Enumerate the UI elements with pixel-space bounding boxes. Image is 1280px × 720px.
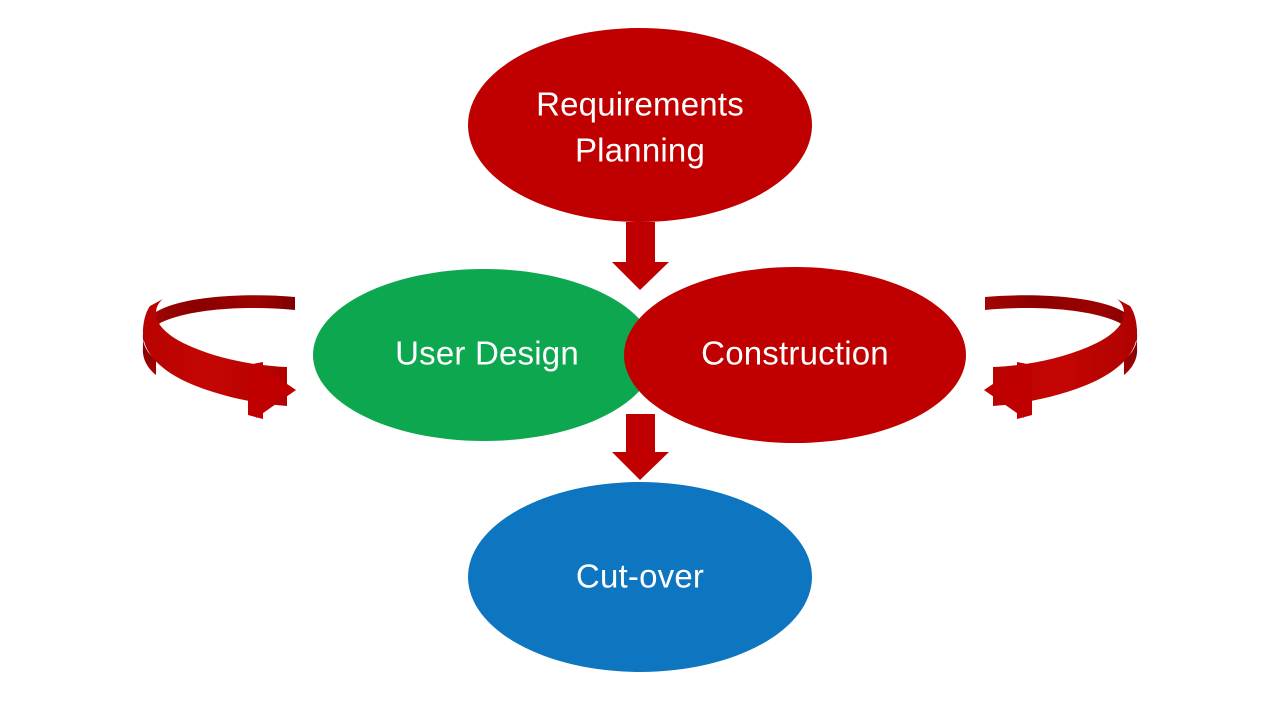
down-arrow-shaft-bottom: [626, 414, 655, 455]
down-arrow-shaft-top: [626, 222, 655, 265]
node-user-design[interactable]: User Design: [313, 269, 655, 441]
node-cut-over[interactable]: Cut-over: [468, 482, 812, 672]
process-cycle-diagram: User Design Construction Requirements Pl…: [0, 0, 1280, 720]
diagram-canvas: User Design Construction Requirements Pl…: [0, 0, 1280, 720]
circular-arrow-right-head-fill: [1017, 362, 1032, 419]
user-design-label: User Design: [395, 335, 579, 372]
requirements-planning-ellipse[interactable]: [468, 28, 812, 222]
requirements-planning-label-line1: Requirements: [536, 86, 744, 123]
node-construction[interactable]: Construction: [624, 267, 966, 443]
down-arrow-head-top: [612, 262, 669, 290]
node-requirements-planning[interactable]: Requirements Planning: [468, 28, 812, 222]
arrow-construction-to-cutover: [612, 414, 669, 480]
iteration-arrow-right: [984, 295, 1137, 419]
down-arrow-head-bottom: [612, 452, 669, 480]
arrow-planning-to-design: [612, 222, 669, 290]
iteration-arrow-left: [143, 295, 296, 419]
construction-label: Construction: [701, 335, 889, 372]
circular-arrow-left-head-fill: [248, 362, 263, 419]
requirements-planning-label-line2: Planning: [575, 132, 705, 169]
cut-over-label: Cut-over: [576, 558, 704, 595]
